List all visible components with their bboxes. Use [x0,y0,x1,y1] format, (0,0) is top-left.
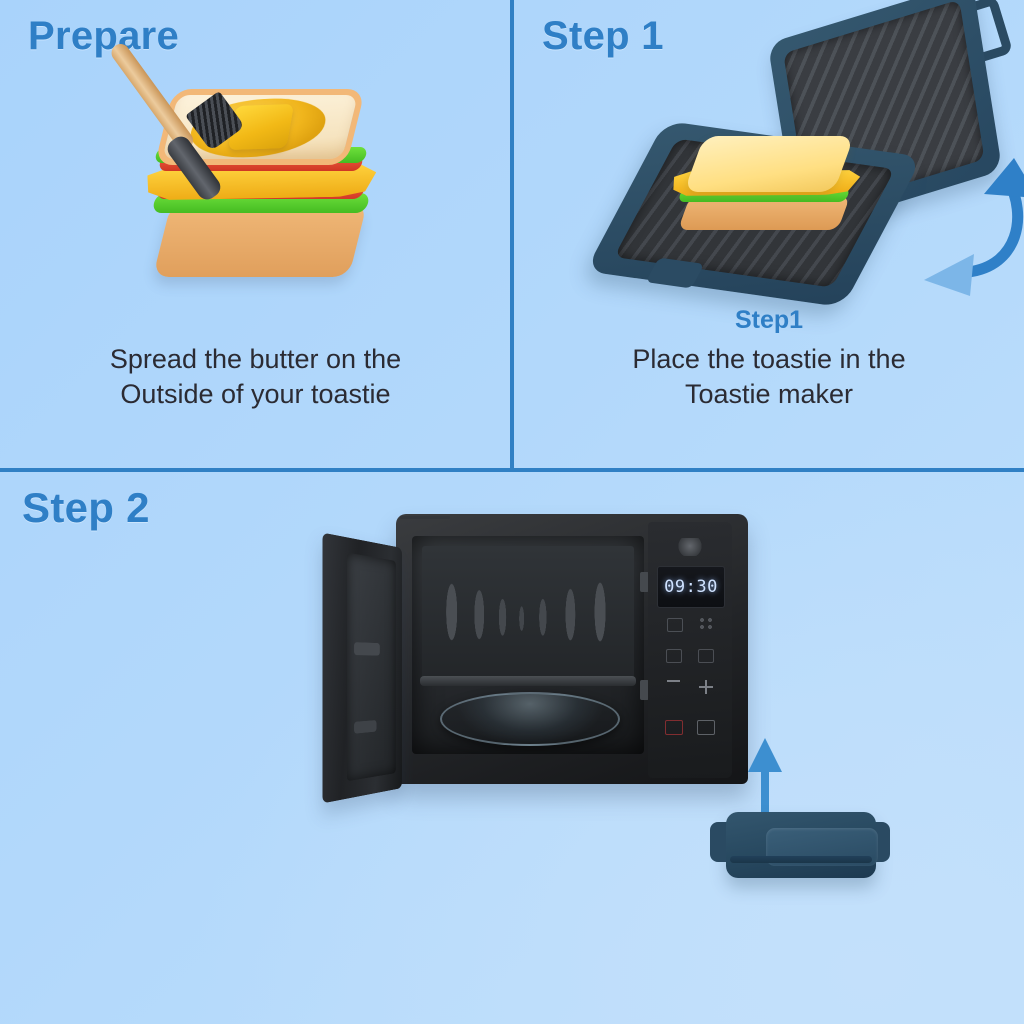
step1-sublabel: Step1 [514,306,1024,335]
toastie-maker-seam [730,856,872,863]
control-bottom-row[interactable] [658,720,722,735]
sandwich-in-toastie-maker [678,138,858,234]
stop-icon[interactable] [665,720,683,735]
buttered-sandwich-illustration [120,55,410,330]
sandwich-bread-top [684,136,854,192]
microwave-top-vent [400,516,450,519]
step2-heading: Step 2 [22,484,150,532]
toastie-maker-shell [726,812,876,878]
start-icon[interactable] [697,720,715,735]
bread-bottom-slice [153,203,367,277]
door-hook-bottom [354,720,376,734]
plus-button[interactable] [699,680,713,694]
prepare-caption: Spread the butter on the Outside of your… [0,342,511,411]
minus-button[interactable] [667,680,680,682]
door-inner-panel [347,553,396,782]
defrost-icon[interactable] [667,618,683,632]
microwave-illustration: 09:30 [296,502,756,852]
vertical-divider [510,0,514,470]
glass-turntable-plate [440,692,620,746]
panel-step1: Step 1 Step1 Place [514,0,1024,468]
cavity-back-wall [422,546,634,678]
cavity-shelf [420,676,636,686]
combi-icon[interactable] [698,649,714,663]
close-lid-curved-arrow-icon [922,154,1024,304]
grid-icon[interactable] [700,618,714,630]
prepare-heading: Prepare [28,14,179,59]
microwave-control-panel[interactable]: 09:30 [648,522,732,778]
door-hook-top [354,642,380,655]
brand-logo-icon [677,538,703,556]
control-button-grid[interactable] [658,618,722,694]
microwave-door[interactable] [322,533,402,804]
reheat-icon[interactable] [666,649,682,663]
open-toastie-maker-illustration [606,6,1024,306]
microwave-cavity [412,536,644,754]
panel-prepare: Prepare Spread the butter on the Outside… [0,0,511,468]
recipe-steps-infographic: Prepare Spread the butter on the Outside… [0,0,1024,1024]
step1-caption: Place the toastie in the Toastie maker [514,342,1024,411]
panel-step2: Step 2 09:30 [0,472,1024,1024]
display-time: 09:30 [664,577,718,597]
closed-toastie-maker [704,802,896,898]
microwave-display: 09:30 [657,566,725,608]
